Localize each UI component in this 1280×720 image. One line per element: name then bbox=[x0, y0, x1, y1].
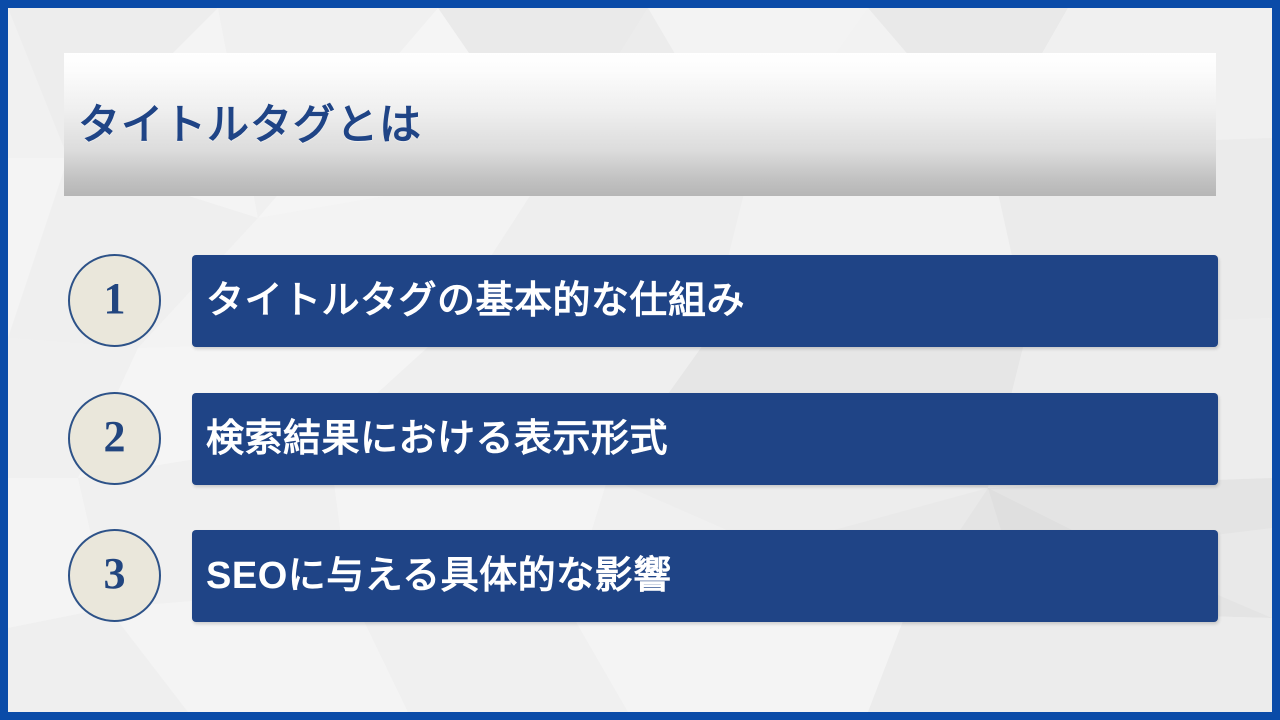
item-bar[interactable]: 検索結果における表示形式 bbox=[192, 393, 1218, 485]
item-number-badge: 3 bbox=[68, 529, 161, 622]
list-item[interactable]: 3 SEOに与える具体的な影響 bbox=[68, 530, 1218, 622]
item-number-badge: 2 bbox=[68, 392, 161, 485]
agenda-list: 1 タイトルタグの基本的な仕組み 2 検索結果における表示形式 3 SEOに与え… bbox=[0, 0, 1280, 720]
frame-border-left bbox=[0, 0, 8, 720]
item-label: 検索結果における表示形式 bbox=[206, 420, 668, 458]
frame-border-right bbox=[1272, 0, 1280, 720]
frame-border-bottom bbox=[0, 712, 1280, 720]
item-number: 1 bbox=[104, 277, 126, 321]
item-bar[interactable]: SEOに与える具体的な影響 bbox=[192, 530, 1218, 622]
item-bar[interactable]: タイトルタグの基本的な仕組み bbox=[192, 255, 1218, 347]
slide-canvas: タイトルタグとは 1 タイトルタグの基本的な仕組み 2 検索結果における表示形式… bbox=[0, 0, 1280, 720]
item-label: SEOに与える具体的な影響 bbox=[206, 557, 672, 595]
item-number: 3 bbox=[104, 552, 126, 596]
list-item[interactable]: 2 検索結果における表示形式 bbox=[68, 393, 1218, 485]
frame-border-top bbox=[0, 0, 1280, 8]
item-label: タイトルタグの基本的な仕組み bbox=[206, 282, 745, 320]
item-number: 2 bbox=[104, 415, 126, 459]
list-item[interactable]: 1 タイトルタグの基本的な仕組み bbox=[68, 255, 1218, 347]
item-number-badge: 1 bbox=[68, 254, 161, 347]
